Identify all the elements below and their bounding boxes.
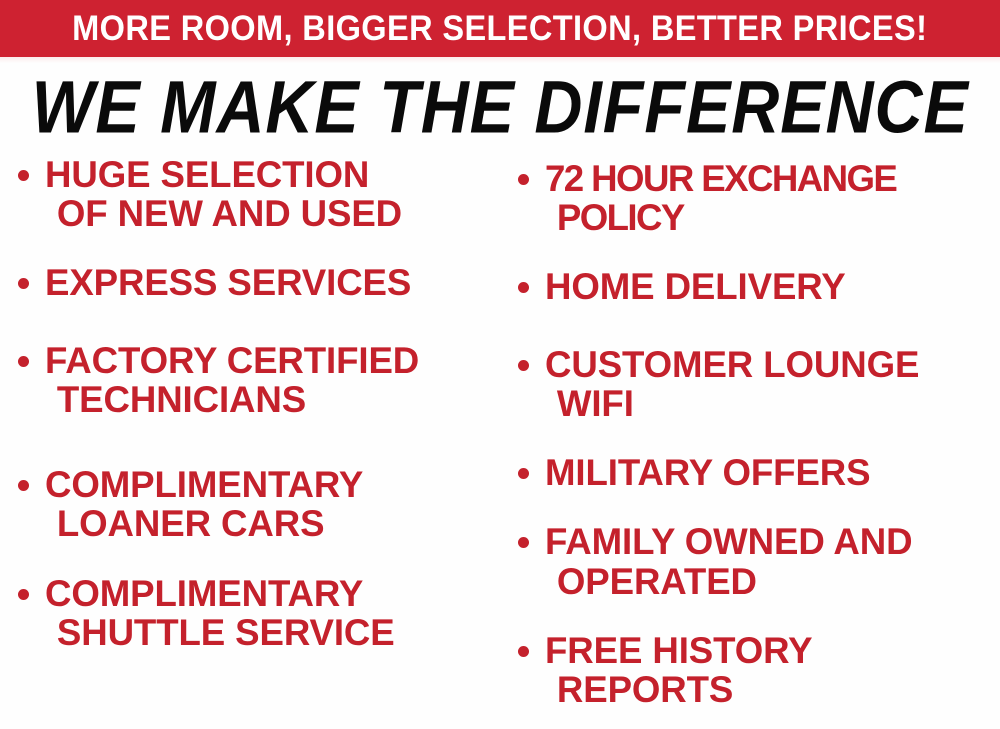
list-item-label: EXPRESS SERVICES [45, 263, 411, 302]
bullet-dot-icon [18, 356, 29, 367]
list-item: FREE HISTORY REPORTS [518, 631, 1000, 709]
list-item: FAMILY OWNED AND OPERATED [518, 522, 1000, 600]
list-item-label: HUGE SELECTION OF NEW AND USED [45, 155, 402, 233]
promo-banner-text: MORE ROOM, BIGGER SELECTION, BETTER PRIC… [72, 11, 927, 46]
list-item-label: COMPLIMENTARY LOANER CARS [45, 465, 363, 543]
list-item: COMPLIMENTARY SHUTTLE SERVICE [18, 574, 500, 652]
list-item: FACTORY CERTIFIED TECHNICIANS [18, 341, 500, 419]
list-item: COMPLIMENTARY LOANER CARS [18, 465, 500, 543]
list-item: MILITARY OFFERS [518, 453, 1000, 492]
list-item-line2: WIFI [557, 384, 919, 423]
list-item-label: 72 HOUR EXCHANGE POLICY [545, 159, 896, 237]
promo-banner: MORE ROOM, BIGGER SELECTION, BETTER PRIC… [0, 0, 1000, 57]
bullet-dot-icon [18, 589, 29, 600]
list-item: CUSTOMER LOUNGE WIFI [518, 345, 1000, 423]
list-item-label: HOME DELIVERY [545, 267, 846, 306]
list-item-line1: FACTORY CERTIFIED [45, 340, 419, 381]
list-item: EXPRESS SERVICES [18, 263, 500, 302]
list-item-label: FACTORY CERTIFIED TECHNICIANS [45, 341, 419, 419]
list-item-line2: POLICY [557, 198, 896, 237]
bullet-dot-icon [518, 174, 529, 185]
headline-container: WE MAKE THE DIFFERENCE [0, 63, 1000, 151]
bullet-dot-icon [18, 278, 29, 289]
list-item-line2: REPORTS [557, 670, 813, 709]
list-item-line1: CUSTOMER LOUNGE [545, 344, 919, 385]
page-title: WE MAKE THE DIFFERENCE [31, 70, 968, 144]
list-item: HOME DELIVERY [518, 267, 1000, 306]
list-item-line2: TECHNICIANS [57, 380, 419, 419]
list-item-line2: OPERATED [557, 562, 913, 601]
list-item-line1: FREE HISTORY [545, 630, 812, 671]
list-item-line1: COMPLIMENTARY [45, 464, 363, 505]
list-item-line1: FAMILY OWNED AND [545, 521, 912, 562]
list-item: 72 HOUR EXCHANGE POLICY [518, 159, 1000, 237]
bullet-dot-icon [18, 170, 29, 181]
bullet-dot-icon [518, 282, 529, 293]
list-item-label: MILITARY OFFERS [545, 453, 870, 492]
list-item-line1: EXPRESS SERVICES [45, 262, 411, 303]
features-columns: HUGE SELECTION OF NEW AND USED EXPRESS S… [0, 155, 1000, 694]
list-item-line2: OF NEW AND USED [57, 194, 402, 233]
features-column-left: HUGE SELECTION OF NEW AND USED EXPRESS S… [18, 155, 500, 674]
bullet-dot-icon [518, 537, 529, 548]
list-item-label: FAMILY OWNED AND OPERATED [545, 522, 912, 600]
list-item-label: FREE HISTORY REPORTS [545, 631, 812, 709]
list-item-label: CUSTOMER LOUNGE WIFI [545, 345, 919, 423]
list-item-label: COMPLIMENTARY SHUTTLE SERVICE [45, 574, 395, 652]
list-item: HUGE SELECTION OF NEW AND USED [18, 155, 500, 233]
list-item-line1: HUGE SELECTION [45, 154, 369, 195]
bullet-dot-icon [518, 360, 529, 371]
list-item-line1: MILITARY OFFERS [545, 452, 870, 493]
features-column-right: 72 HOUR EXCHANGE POLICY HOME DELIVERY CU… [518, 155, 1000, 729]
list-item-line1: HOME DELIVERY [545, 266, 846, 307]
bullet-dot-icon [18, 480, 29, 491]
list-item-line2: SHUTTLE SERVICE [57, 613, 395, 652]
list-item-line1: 72 HOUR EXCHANGE [545, 158, 896, 199]
bullet-dot-icon [518, 468, 529, 479]
bullet-dot-icon [518, 646, 529, 657]
list-item-line1: COMPLIMENTARY [45, 573, 363, 614]
list-item-line2: LOANER CARS [57, 504, 363, 543]
